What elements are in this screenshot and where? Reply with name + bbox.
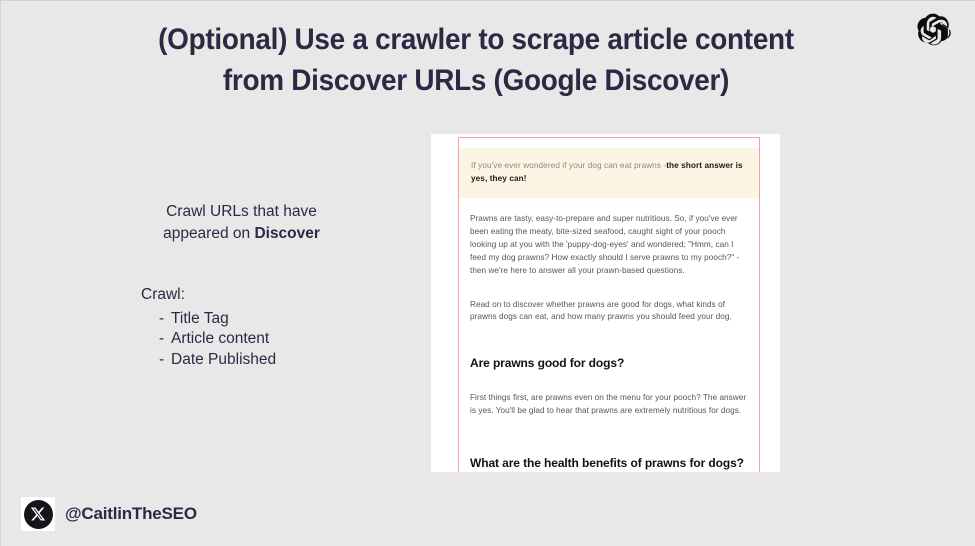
social-handle-label: @CaitlinTheSEO [65, 504, 197, 524]
article-intro-text: If you've ever wondered if your dog can … [471, 161, 666, 170]
lead-text-emphasis: Discover [254, 225, 319, 242]
crawl-list: - Title Tag - Article content - Date Pub… [141, 308, 276, 370]
article-paragraph-3: First things first, are prawns even on t… [459, 370, 759, 418]
openai-logo-icon [913, 9, 953, 49]
article-heading-1: Are prawns good for dogs? [459, 324, 759, 370]
crawl-list-heading: Crawl: [141, 285, 276, 305]
article-heading-2: What are the health benefits of prawns f… [459, 418, 759, 470]
list-item: - Title Tag [141, 308, 276, 329]
article-screenshot-card: If you've ever wondered if your dog can … [431, 134, 780, 472]
list-item-dash: - [141, 350, 171, 370]
article-content-frame: If you've ever wondered if your dog can … [458, 137, 760, 472]
page-title-line-2: from Discover URLs (Google Discover) [90, 60, 862, 101]
page-title: (Optional) Use a crawler to scrape artic… [90, 19, 862, 101]
page-title-line-1: (Optional) Use a crawler to scrape artic… [90, 19, 862, 60]
list-item-label: Title Tag [171, 309, 229, 329]
list-item-label: Article content [171, 329, 269, 349]
article-intro-highlight: If you've ever wondered if your dog can … [459, 148, 759, 198]
x-twitter-icon [24, 500, 53, 529]
footer-social-handle: @CaitlinTheSEO [21, 497, 197, 531]
crawl-list-block: Crawl: - Title Tag - Article content - D… [141, 285, 276, 369]
lead-text: Crawl URLs that have appeared on Discove… [134, 201, 349, 245]
x-twitter-badge [21, 497, 55, 531]
list-item: - Date Published [141, 349, 276, 370]
slide: (Optional) Use a crawler to scrape artic… [0, 0, 975, 546]
list-item-dash: - [141, 309, 171, 329]
list-item: - Article content [141, 328, 276, 349]
list-item-dash: - [141, 329, 171, 349]
article-paragraph-2: Read on to discover whether prawns are g… [459, 278, 759, 325]
article-paragraph-1: Prawns are tasty, easy-to-prepare and su… [459, 198, 759, 278]
list-item-label: Date Published [171, 350, 276, 370]
